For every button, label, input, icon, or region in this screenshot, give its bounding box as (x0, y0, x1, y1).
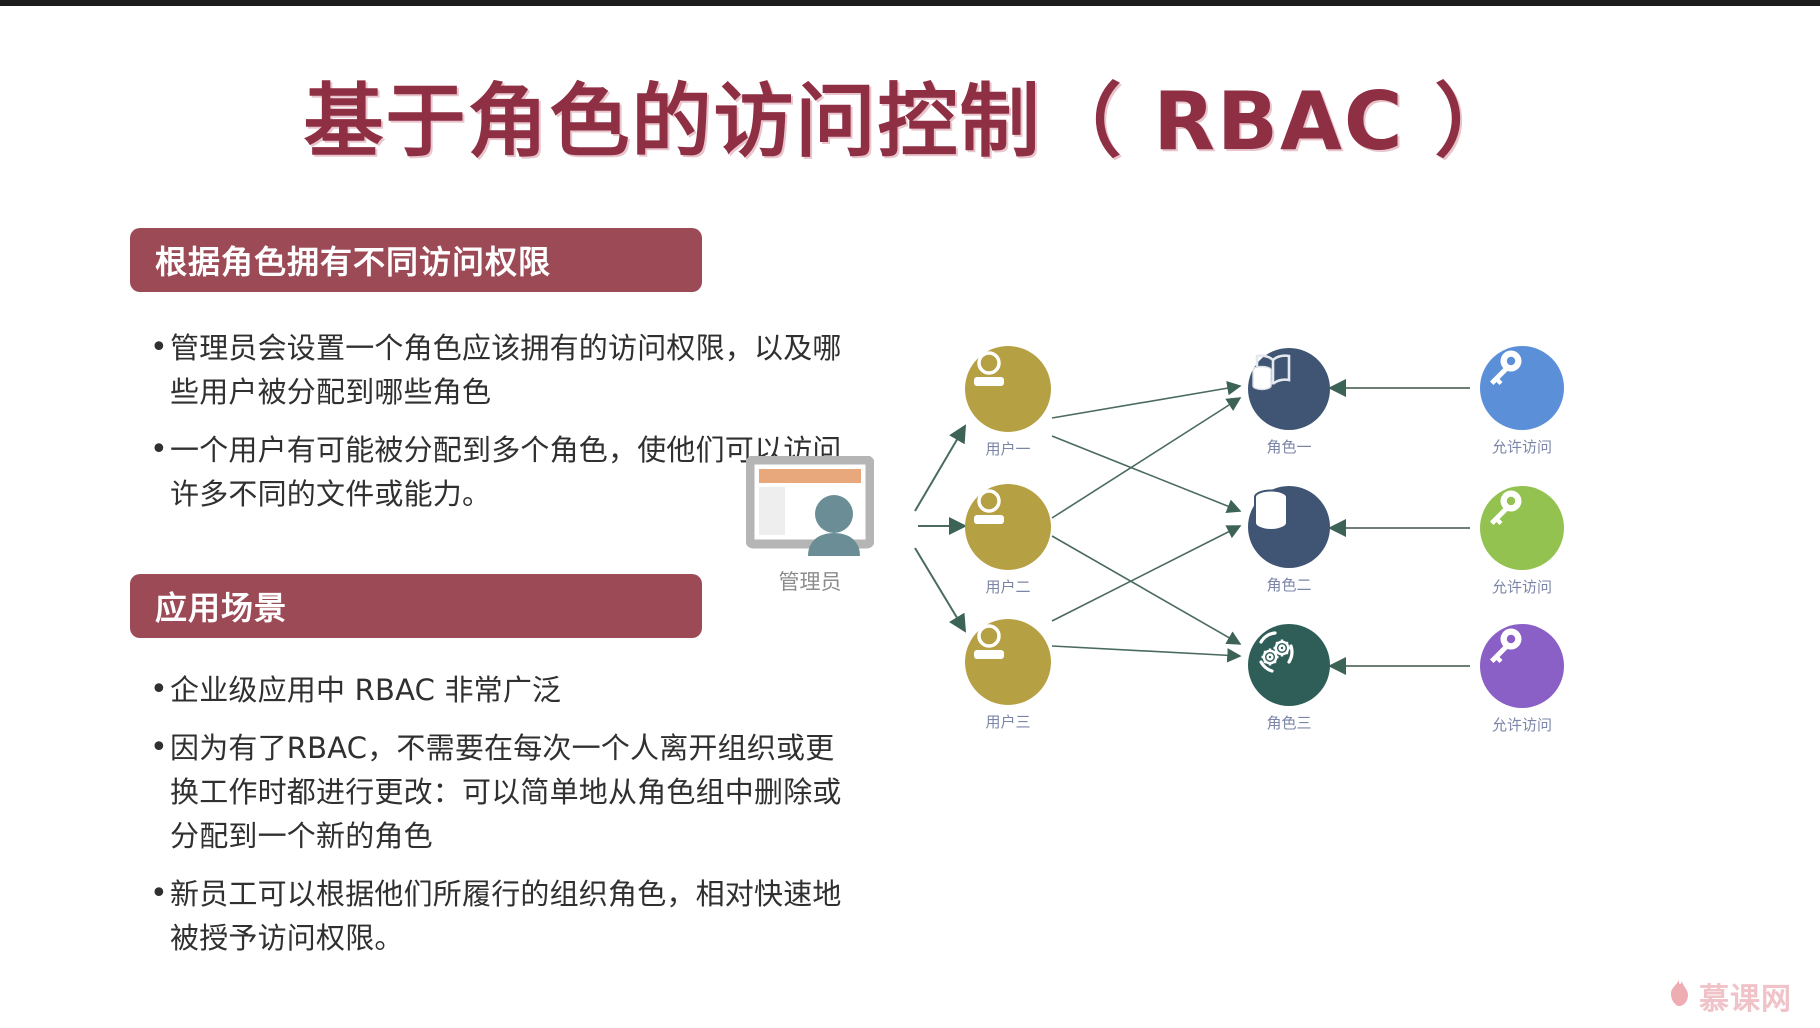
permission-label-1: 允许访问 (1480, 436, 1564, 457)
key-icon (1480, 346, 1564, 430)
user-icon (965, 484, 1051, 570)
bullet-marker-icon: • (150, 872, 170, 960)
section-banner-1-label: 根据角色拥有不同访问权限 (155, 237, 551, 283)
admin-node: 管理员 (695, 456, 925, 596)
app-window: 更多资源 www.cong0sousuo.top 基于角色的访问控制（ RBAC… (0, 0, 1820, 1028)
list-item: • 因为有了RBAC，不需要在每次一个人离开组织或更换工作时都进行更改：可以简单… (150, 726, 850, 858)
section-banner-1: 根据角色拥有不同访问权限 (130, 228, 702, 292)
section-banner-2-label: 应用场景 (155, 583, 287, 629)
role-label-2: 角色二 (1248, 574, 1330, 595)
monitor-person-icon (746, 456, 874, 556)
role-node-3: 角色三 (1248, 624, 1330, 733)
bullet-marker-icon: • (150, 326, 170, 414)
permission-node-1: 允许访问 (1480, 346, 1564, 457)
list-item: • 企业级应用中 RBAC 非常广泛 (150, 668, 850, 712)
imooc-logo: 慕课网 (1665, 974, 1792, 1018)
permission-label-2: 允许访问 (1480, 576, 1564, 597)
bullet-text: 管理员会设置一个角色应该拥有的访问权限，以及哪些用户被分配到哪些角色 (170, 326, 850, 414)
bullet-text: 企业级应用中 RBAC 非常广泛 (170, 668, 561, 712)
user-label-3: 用户三 (965, 711, 1051, 732)
slide-canvas: 基于角色的访问控制（ RBAC ） 根据角色拥有不同访问权限 • 管理员会设置一… (0, 6, 1820, 1028)
role-label-1: 角色一 (1248, 436, 1330, 457)
user-node-2: 用户二 (965, 484, 1051, 597)
bullet-text: 新员工可以根据他们所履行的组织角色，相对快速地被授予访问权限。 (170, 872, 850, 960)
permission-node-2: 允许访问 (1480, 486, 1564, 597)
key-icon (1480, 486, 1564, 570)
role-node-1: 角色一 (1248, 348, 1330, 457)
database-icon (1248, 486, 1330, 568)
user-node-3: 用户三 (965, 619, 1051, 732)
section-banner-2: 应用场景 (130, 574, 702, 638)
bullet-marker-icon: • (150, 668, 170, 712)
gears-icon (1248, 624, 1330, 706)
user-node-1: 用户一 (965, 346, 1051, 459)
permission-label-3: 允许访问 (1480, 714, 1564, 735)
list-item: • 新员工可以根据他们所履行的组织角色，相对快速地被授予访问权限。 (150, 872, 850, 960)
bullet-marker-icon: • (150, 726, 170, 858)
role-label-3: 角色三 (1248, 712, 1330, 733)
list-item: • 管理员会设置一个角色应该拥有的访问权限，以及哪些用户被分配到哪些角色 (150, 326, 850, 414)
rbac-diagram: 管理员 用户一 用户二 (790, 326, 1820, 886)
key-icon (1480, 624, 1564, 708)
user-label-2: 用户二 (965, 576, 1051, 597)
bullet-marker-icon: • (150, 428, 170, 516)
user-icon (965, 346, 1051, 432)
bullet-list-2: • 企业级应用中 RBAC 非常广泛 • 因为有了RBAC，不需要在每次一个人离… (150, 668, 850, 974)
flame-icon (1665, 977, 1691, 1015)
imooc-logo-text: 慕课网 (1699, 974, 1792, 1018)
user-label-1: 用户一 (965, 438, 1051, 459)
book-database-icon (1248, 348, 1330, 430)
admin-label: 管理员 (695, 566, 925, 596)
user-icon (965, 619, 1051, 705)
role-node-2: 角色二 (1248, 486, 1330, 595)
bullet-text: 因为有了RBAC，不需要在每次一个人离开组织或更换工作时都进行更改：可以简单地从… (170, 726, 850, 858)
permission-node-3: 允许访问 (1480, 624, 1564, 735)
